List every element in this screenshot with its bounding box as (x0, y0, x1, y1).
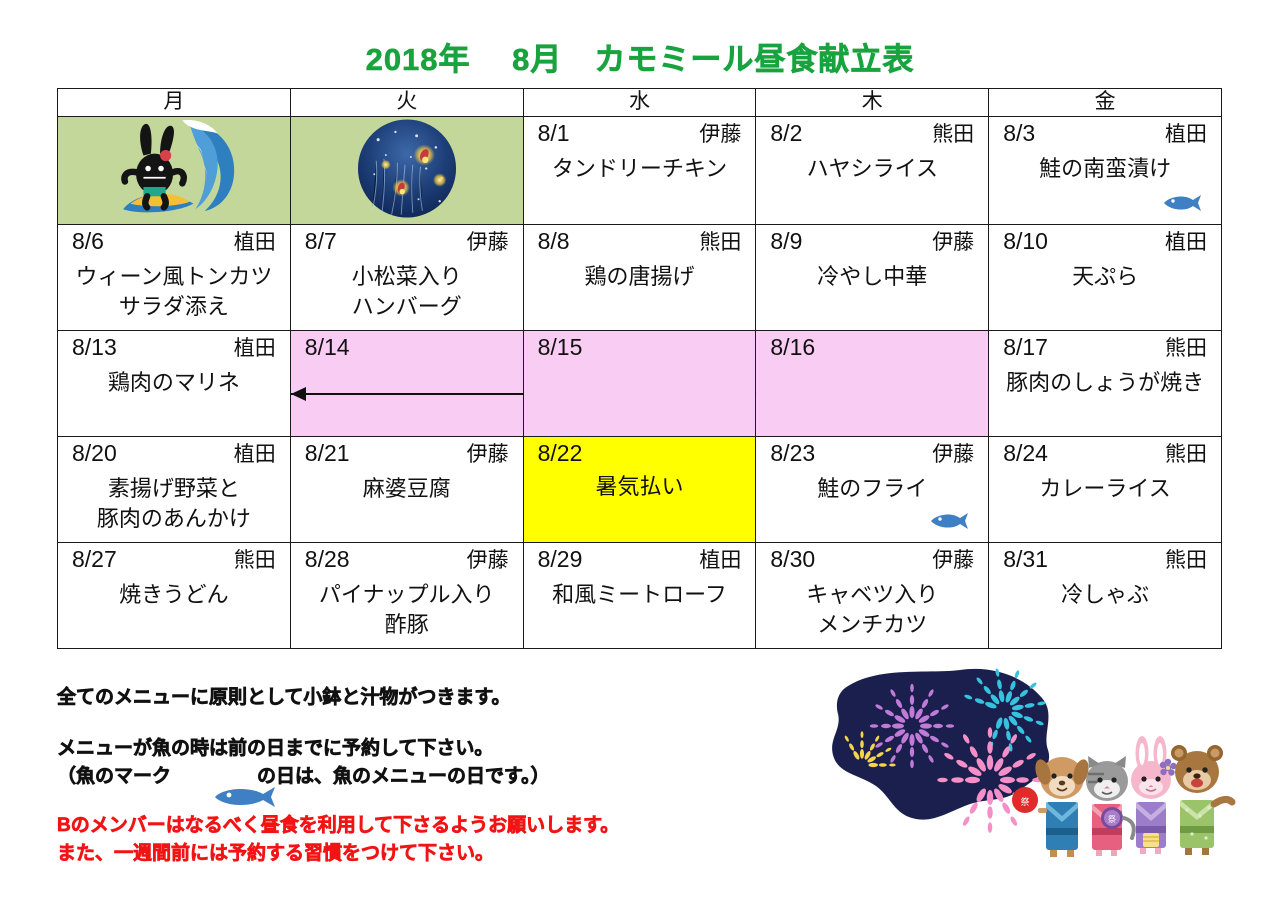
calendar-cell: 8/14夏休み (290, 331, 523, 437)
calendar-week-row: 8/13植田鶏肉のマリネ8/14夏休み8/158/168/17熊田豚肉のしょうが… (58, 331, 1222, 437)
cell-chef: 熊田 (234, 547, 276, 575)
note-b-members: Bのメンバーはなるべく昼食を利用して下さるようお願いします。 (57, 810, 619, 837)
cell-date: 8/27 (72, 545, 117, 573)
cell-content: 8/14夏休み (291, 331, 523, 436)
cell-header: 8/20植田 (58, 437, 290, 469)
cell-chef: 熊田 (1165, 335, 1207, 363)
calendar-cell: 8/20植田素揚げ野菜と 豚肉のあんかけ (58, 437, 291, 543)
calendar-week-row: 8/27熊田焼きうどん8/28伊藤パイナップル入り 酢豚8/29植田和風ミートロ… (58, 543, 1222, 649)
calendar-cell: 8/6植田ウィーン風トンカツ サラダ添え (58, 225, 291, 331)
calendar-cell: 8/3植田鮭の南蛮漬け (989, 117, 1222, 225)
cell-chef: 熊田 (932, 121, 974, 149)
cell-content: 8/27熊田焼きうどん (58, 543, 290, 648)
firefly-night-icon (355, 118, 459, 223)
cell-date: 8/15 (538, 333, 583, 361)
weekday-header-fri: 金 (989, 89, 1222, 117)
cell-date: 8/1 (538, 119, 570, 147)
calendar-cell: 8/13植田鶏肉のマリネ (58, 331, 291, 437)
cell-content: 8/7伊藤小松菜入り ハンバーグ (291, 225, 523, 330)
cell-date: 8/14 (305, 333, 350, 361)
cell-date: 8/13 (72, 333, 117, 361)
cell-header: 8/3植田 (989, 117, 1221, 149)
bear-in-green-yukata (1171, 745, 1232, 855)
cell-content: 8/20植田素揚げ野菜と 豚肉のあんかけ (58, 437, 290, 542)
cell-chef: 伊藤 (467, 547, 509, 575)
cell-date: 8/20 (72, 439, 117, 467)
cell-content: 8/30伊藤キャベツ入り メンチカツ (756, 543, 988, 648)
calendar-week-row: 8/20植田素揚げ野菜と 豚肉のあんかけ8/21伊藤麻婆豆腐8/22暑気払い8/… (58, 437, 1222, 543)
cell-chef: 伊藤 (467, 441, 509, 469)
cell-header: 8/6植田 (58, 225, 290, 257)
cell-header: 8/2熊田 (756, 117, 988, 149)
weekday-header-wed: 水 (523, 89, 756, 117)
cell-header: 8/28伊藤 (291, 543, 523, 575)
calendar-cell: 8/23伊藤鮭のフライ (756, 437, 989, 543)
cell-date: 8/17 (1003, 333, 1048, 361)
cell-date: 8/23 (770, 439, 815, 467)
cell-header: 8/8熊田 (524, 225, 756, 257)
svg-text:祭: 祭 (1020, 796, 1029, 807)
cell-header: 8/31熊田 (989, 543, 1221, 575)
cell-header: 8/14 (291, 331, 523, 361)
cell-chef: 植田 (1165, 229, 1207, 257)
weekday-header-tue: 火 (290, 89, 523, 117)
cell-chef: 伊藤 (467, 229, 509, 257)
cell-content: 8/31熊田冷しゃぶ (989, 543, 1221, 648)
cell-date: 8/31 (1003, 545, 1048, 573)
cell-chef: 伊藤 (932, 547, 974, 575)
cell-menu: ウィーン風トンカツ サラダ添え (58, 262, 290, 322)
cell-chef: 熊田 (1165, 441, 1207, 469)
cell-date: 8/30 (770, 545, 815, 573)
cell-header: 8/1伊藤 (524, 117, 756, 149)
cell-content: 8/8熊田鶏の唐揚げ (524, 225, 756, 330)
cell-header: 8/13植田 (58, 331, 290, 363)
cell-content: 8/21伊藤麻婆豆腐 (291, 437, 523, 542)
svg-text:祭: 祭 (1108, 814, 1116, 824)
cat-in-pink-yukata: 祭 (1086, 756, 1134, 856)
cell-chef: 熊田 (1165, 547, 1207, 575)
note-fish-reservation: メニューが魚の時は前の日までに予約して下さい。 (57, 733, 493, 760)
cell-header: 8/30伊藤 (756, 543, 988, 575)
cell-date: 8/24 (1003, 439, 1048, 467)
fireworks-and-yukata-animals-illustration: 祭 (820, 668, 1250, 898)
cell-date: 8/29 (538, 545, 583, 573)
cell-chef: 植田 (1165, 121, 1207, 149)
calendar-cell: 8/10植田天ぷら (989, 225, 1222, 331)
calendar-cell: 8/2熊田ハヤシライス (756, 117, 989, 225)
cell-date: 8/22 (538, 439, 583, 467)
cell-content (58, 117, 290, 224)
cell-chef: 伊藤 (699, 121, 741, 149)
cell-chef: 熊田 (699, 229, 741, 257)
calendar-cell (290, 117, 523, 225)
cell-menu: 小松菜入り ハンバーグ (291, 262, 523, 322)
cell-menu: 豚肉のしょうが焼き (989, 368, 1221, 398)
page-title: 2018年 8月 カモミール昼食献立表 (0, 34, 1280, 79)
cell-header: 8/27熊田 (58, 543, 290, 575)
cell-menu: ハヤシライス (756, 154, 988, 184)
cell-date: 8/10 (1003, 227, 1048, 255)
cell-header: 8/15 (524, 331, 756, 361)
cell-content (291, 117, 523, 224)
cell-content: 8/29植田和風ミートローフ (524, 543, 756, 648)
cell-content: 8/28伊藤パイナップル入り 酢豚 (291, 543, 523, 648)
cell-date: 8/8 (538, 227, 570, 255)
calendar-cell: 8/24熊田カレーライス (989, 437, 1222, 543)
cell-content: 8/17熊田豚肉のしょうが焼き (989, 331, 1221, 436)
dog-in-blue-yukata (1033, 757, 1092, 857)
cell-header: 8/23伊藤 (756, 437, 988, 469)
cell-header: 8/10植田 (989, 225, 1221, 257)
calendar-body: 8/1伊藤タンドリーチキン8/2熊田ハヤシライス8/3植田鮭の南蛮漬け8/6植田… (58, 117, 1222, 649)
cell-menu: 麻婆豆腐 (291, 474, 523, 504)
cell-content: 8/3植田鮭の南蛮漬け (989, 117, 1221, 224)
cell-content: 8/15 (524, 331, 756, 436)
calendar-cell: 8/17熊田豚肉のしょうが焼き (989, 331, 1222, 437)
lunch-menu-calendar: 月 火 水 木 金 8/1伊藤タンドリーチキン8/2熊田ハヤシライス8/3植田鮭… (57, 88, 1222, 649)
calendar-cell: 8/9伊藤冷やし中華 (756, 225, 989, 331)
cell-date: 8/3 (1003, 119, 1035, 147)
cell-header: 8/9伊藤 (756, 225, 988, 257)
cell-menu: 和風ミートローフ (524, 580, 756, 610)
cell-content: 8/13植田鶏肉のマリネ (58, 331, 290, 436)
weekday-header-mon: 月 (58, 89, 291, 117)
calendar-cell: 8/7伊藤小松菜入り ハンバーグ (290, 225, 523, 331)
note-fish-legend-before: （魚のマーク (57, 761, 171, 788)
cell-chef: 植田 (234, 441, 276, 469)
rabbit-in-purple-yukata (1131, 736, 1177, 854)
calendar-cell (58, 117, 291, 225)
cell-menu: パイナップル入り 酢豚 (291, 580, 523, 640)
cell-menu: 鮭のフライ (756, 474, 988, 504)
calendar-week-row: 8/6植田ウィーン風トンカツ サラダ添え8/7伊藤小松菜入り ハンバーグ8/8熊… (58, 225, 1222, 331)
cell-menu: 冷やし中華 (756, 262, 988, 292)
calendar-cell: 8/16 (756, 331, 989, 437)
cell-content: 8/2熊田ハヤシライス (756, 117, 988, 224)
note-fish-mark-legend: （魚のマーク の日は、魚のメニューの日です。） (57, 761, 550, 788)
note-side-dishes: 全てのメニューに原則として小鉢と汁物がつきます。 (57, 682, 511, 709)
fish-icon (928, 512, 972, 530)
calendar-cell: 8/30伊藤キャベツ入り メンチカツ (756, 543, 989, 649)
cell-menu: 鮭の南蛮漬け (989, 154, 1221, 184)
cell-content: 8/6植田ウィーン風トンカツ サラダ添え (58, 225, 290, 330)
surfing-rabbit-icon (79, 118, 269, 223)
calendar-week-row: 8/1伊藤タンドリーチキン8/2熊田ハヤシライス8/3植田鮭の南蛮漬け (58, 117, 1222, 225)
cell-content: 8/22暑気払い (524, 437, 756, 542)
calendar-cell: 8/31熊田冷しゃぶ (989, 543, 1222, 649)
cell-menu: 天ぷら (989, 262, 1221, 292)
cell-menu: 冷しゃぶ (989, 580, 1221, 610)
calendar-cell: 8/8熊田鶏の唐揚げ (523, 225, 756, 331)
cell-content: 8/9伊藤冷やし中華 (756, 225, 988, 330)
calendar-cell: 8/15 (523, 331, 756, 437)
festival-mask: 祭 (1012, 787, 1038, 813)
cell-content: 8/23伊藤鮭のフライ (756, 437, 988, 542)
cell-menu: 鶏の唐揚げ (524, 262, 756, 292)
cell-date: 8/21 (305, 439, 350, 467)
cell-header: 8/16 (756, 331, 988, 361)
calendar-cell: 8/27熊田焼きうどん (58, 543, 291, 649)
weekday-header-thu: 木 (756, 89, 989, 117)
cell-chef: 伊藤 (932, 229, 974, 257)
cell-header: 8/21伊藤 (291, 437, 523, 469)
weekday-header-row: 月 火 水 木 金 (58, 89, 1222, 117)
cell-content: 8/24熊田カレーライス (989, 437, 1221, 542)
calendar-cell: 8/28伊藤パイナップル入り 酢豚 (290, 543, 523, 649)
cell-date: 8/28 (305, 545, 350, 573)
cell-header: 8/7伊藤 (291, 225, 523, 257)
cell-date: 8/2 (770, 119, 802, 147)
fish-icon (177, 764, 251, 786)
cell-chef: 植田 (699, 547, 741, 575)
cell-date: 8/9 (770, 227, 802, 255)
cell-menu: 素揚げ野菜と 豚肉のあんかけ (58, 474, 290, 534)
cell-menu: カレーライス (989, 474, 1221, 504)
calendar-cell: 8/21伊藤麻婆豆腐 (290, 437, 523, 543)
cell-menu: 鶏肉のマリネ (58, 368, 290, 398)
note-week-ahead: また、一週間前には予約する習慣をつけて下さい。 (57, 838, 494, 865)
cell-header: 8/29植田 (524, 543, 756, 575)
cell-header: 8/24熊田 (989, 437, 1221, 469)
cell-content: 8/16 (756, 331, 988, 436)
cell-chef: 植田 (234, 229, 276, 257)
fish-icon (1161, 194, 1205, 212)
cell-header: 8/22 (524, 437, 756, 467)
cell-menu: 暑気払い (524, 472, 756, 502)
cell-menu: 焼きうどん (58, 580, 290, 610)
calendar-cell: 8/1伊藤タンドリーチキン (523, 117, 756, 225)
note-fish-legend-after: の日は、魚のメニューの日です。） (257, 761, 550, 788)
cell-date: 8/6 (72, 227, 104, 255)
calendar-cell: 8/22暑気払い (523, 437, 756, 543)
cell-menu: キャベツ入り メンチカツ (756, 580, 988, 640)
cell-chef: 植田 (234, 335, 276, 363)
calendar-cell: 8/29植田和風ミートローフ (523, 543, 756, 649)
cell-content: 8/10植田天ぷら (989, 225, 1221, 330)
cell-date: 8/16 (770, 333, 815, 361)
cell-menu: タンドリーチキン (524, 154, 756, 184)
cell-chef: 伊藤 (932, 441, 974, 469)
cell-date: 8/7 (305, 227, 337, 255)
cell-content: 8/1伊藤タンドリーチキン (524, 117, 756, 224)
menu-calendar-page: 2018年 8月 カモミール昼食献立表 月 火 水 木 金 8/1伊藤タンドリー… (0, 0, 1280, 905)
cell-header: 8/17熊田 (989, 331, 1221, 363)
